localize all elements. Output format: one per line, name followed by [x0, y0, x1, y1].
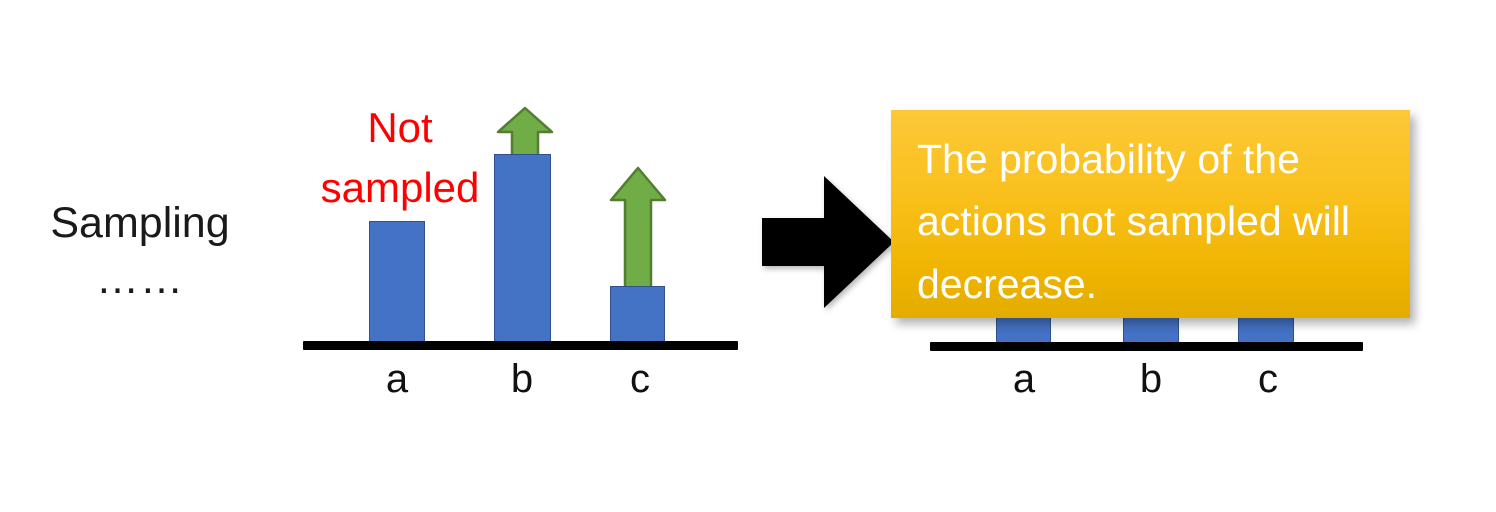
- slide-canvas: Sampling …… Not sampled a b c: [0, 0, 1496, 512]
- callout-box: The probability of the actions not sampl…: [891, 110, 1410, 318]
- x-tick-label-c-after: c: [1238, 359, 1298, 399]
- x-tick-label-b-after: b: [1121, 359, 1181, 399]
- x-axis-line-after: [930, 342, 1363, 351]
- callout-text: The probability of the actions not sampl…: [917, 128, 1384, 315]
- x-tick-label-a-after: a: [994, 359, 1054, 399]
